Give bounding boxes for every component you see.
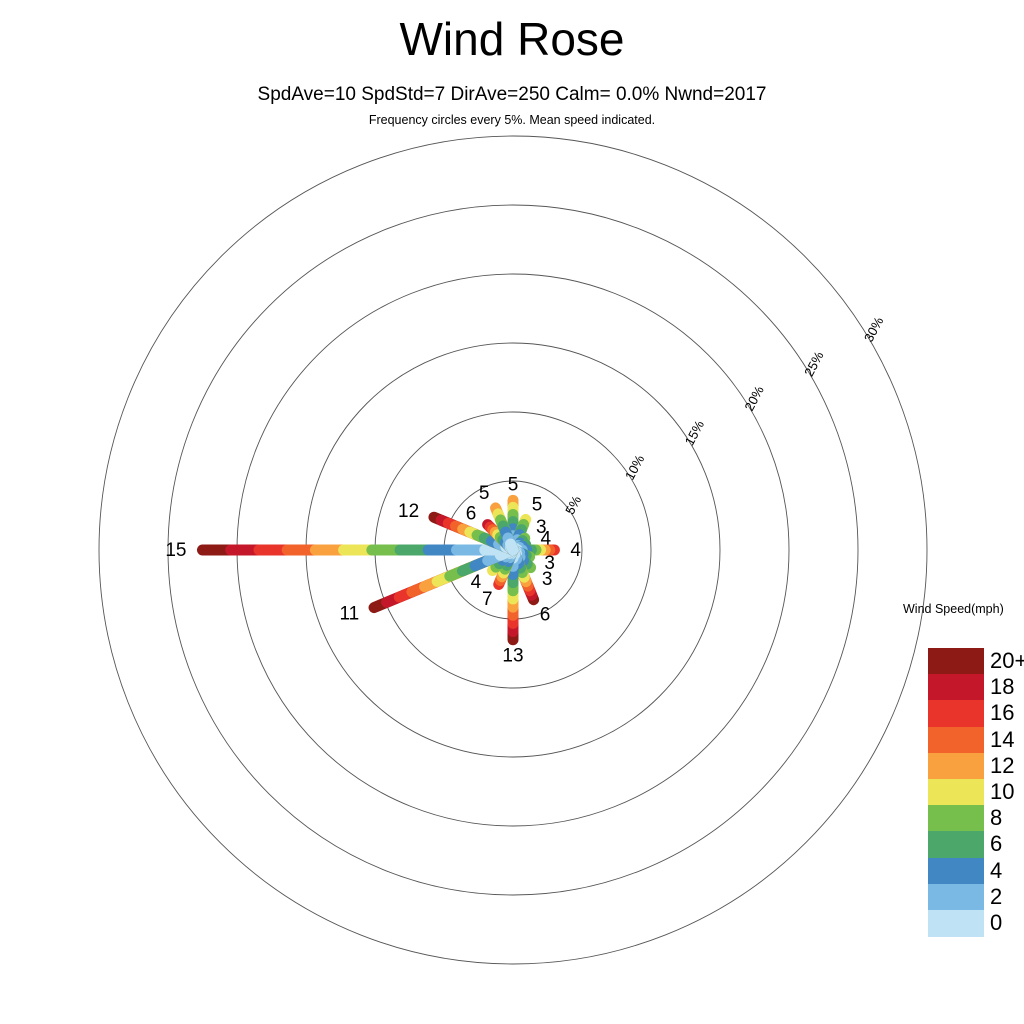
legend-swatch xyxy=(928,700,984,727)
petal-mean-speed-label: 13 xyxy=(502,646,523,667)
ring-label: 25% xyxy=(801,349,827,379)
petal-mean-speed-label: 5 xyxy=(508,474,519,495)
legend-label: 10 xyxy=(990,781,1014,803)
wind-rose-page: Wind Rose SpdAve=10 SpdStd=7 DirAve=250 … xyxy=(0,0,1024,1024)
ring-label: 30% xyxy=(861,314,887,344)
petal-segment xyxy=(511,544,513,550)
legend-swatch xyxy=(928,831,984,858)
legend-label: 8 xyxy=(990,807,1002,829)
legend-swatch xyxy=(928,884,984,911)
petal-mean-speed-label: 12 xyxy=(398,501,419,522)
petal-mean-speed-label: 4 xyxy=(471,572,482,593)
legend-label: 12 xyxy=(990,755,1014,777)
legend-swatch xyxy=(928,648,984,675)
legend-label: 14 xyxy=(990,729,1014,751)
petal-mean-speed-label: 3 xyxy=(542,569,553,590)
petal-mean-speed-label: 7 xyxy=(482,589,493,610)
legend-swatch xyxy=(928,779,984,806)
ring-label: 20% xyxy=(741,383,767,413)
petal-mean-speed-label: 15 xyxy=(165,540,186,561)
legend-swatch xyxy=(928,727,984,754)
legend-colorbar: 20+181614121086420 xyxy=(928,648,1024,938)
legend-swatch xyxy=(928,674,984,701)
ring-label: 5% xyxy=(562,493,584,517)
petal-mean-speed-label: 11 xyxy=(340,604,360,625)
wind-rose-plot: 5%10%15%20%25%30%55344336137411151265 xyxy=(0,0,1024,1024)
petal-mean-speed-label: 5 xyxy=(479,483,490,504)
legend-label: 16 xyxy=(990,702,1014,724)
petal-mean-speed-label: 6 xyxy=(540,605,551,626)
legend-label: 18 xyxy=(990,676,1014,698)
ring-label: 10% xyxy=(622,452,648,482)
legend-label: 6 xyxy=(990,833,1002,855)
legend-swatch xyxy=(928,805,984,832)
legend-swatch xyxy=(928,910,984,937)
petal-mean-speed-label: 4 xyxy=(570,540,581,561)
legend-label: 20+ xyxy=(990,650,1024,672)
legend-label: 0 xyxy=(990,912,1002,934)
legend-label: 4 xyxy=(990,860,1002,882)
petal-mean-speed-label: 4 xyxy=(541,529,552,550)
petal-mean-speed-label: 5 xyxy=(532,495,543,516)
legend-swatch xyxy=(928,858,984,885)
petal-mean-speed-label: 6 xyxy=(466,503,477,524)
ring-label: 15% xyxy=(682,418,708,448)
legend-label: 2 xyxy=(990,886,1002,908)
legend-title: Wind Speed(mph) xyxy=(903,602,1004,616)
legend-swatch xyxy=(928,753,984,780)
